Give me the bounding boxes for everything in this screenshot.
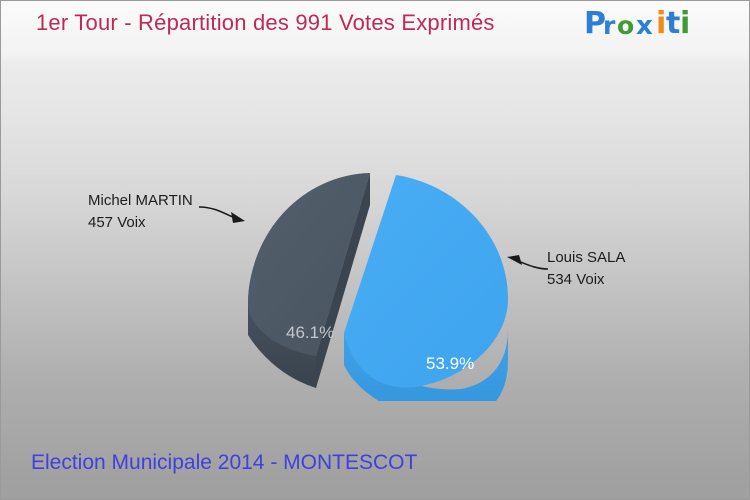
page-title: 1er Tour - Répartition des 991 Votes Exp… xyxy=(36,10,495,36)
callout-arrow-right xyxy=(506,253,556,279)
logo-letter-t: t xyxy=(666,9,680,39)
header-bar: 1er Tour - Répartition des 991 Votes Exp… xyxy=(1,1,749,59)
pie-chart: 46.1% 53.9% xyxy=(226,111,526,401)
callout-right-votes: 534 Voix xyxy=(547,269,625,291)
slice-percent-right: 53.9% xyxy=(426,354,474,374)
callout-left-votes: 457 Voix xyxy=(88,212,193,234)
proxiti-logo[interactable]: P r o x i t i xyxy=(584,9,694,45)
callout-label-left: Michel MARTIN 457 Voix xyxy=(88,190,193,234)
logo-letter-r: r xyxy=(603,11,615,41)
callout-arrow-left xyxy=(197,197,257,227)
pie-svg xyxy=(226,111,526,401)
callout-left-name: Michel MARTIN xyxy=(88,190,193,212)
logo-letter-x: x xyxy=(636,11,653,41)
logo-letter-o: o xyxy=(617,11,634,41)
logo-letter-i-2: i xyxy=(680,9,690,39)
slice-percent-left: 46.1% xyxy=(286,323,334,343)
callout-label-right: Louis SALA 534 Voix xyxy=(547,247,625,291)
footer-title: Election Municipale 2014 - MONTESCOT xyxy=(31,451,417,475)
logo-letter-i-1: i xyxy=(656,9,666,39)
chart-page: 1er Tour - Répartition des 991 Votes Exp… xyxy=(0,0,750,500)
callout-right-name: Louis SALA xyxy=(547,247,625,269)
